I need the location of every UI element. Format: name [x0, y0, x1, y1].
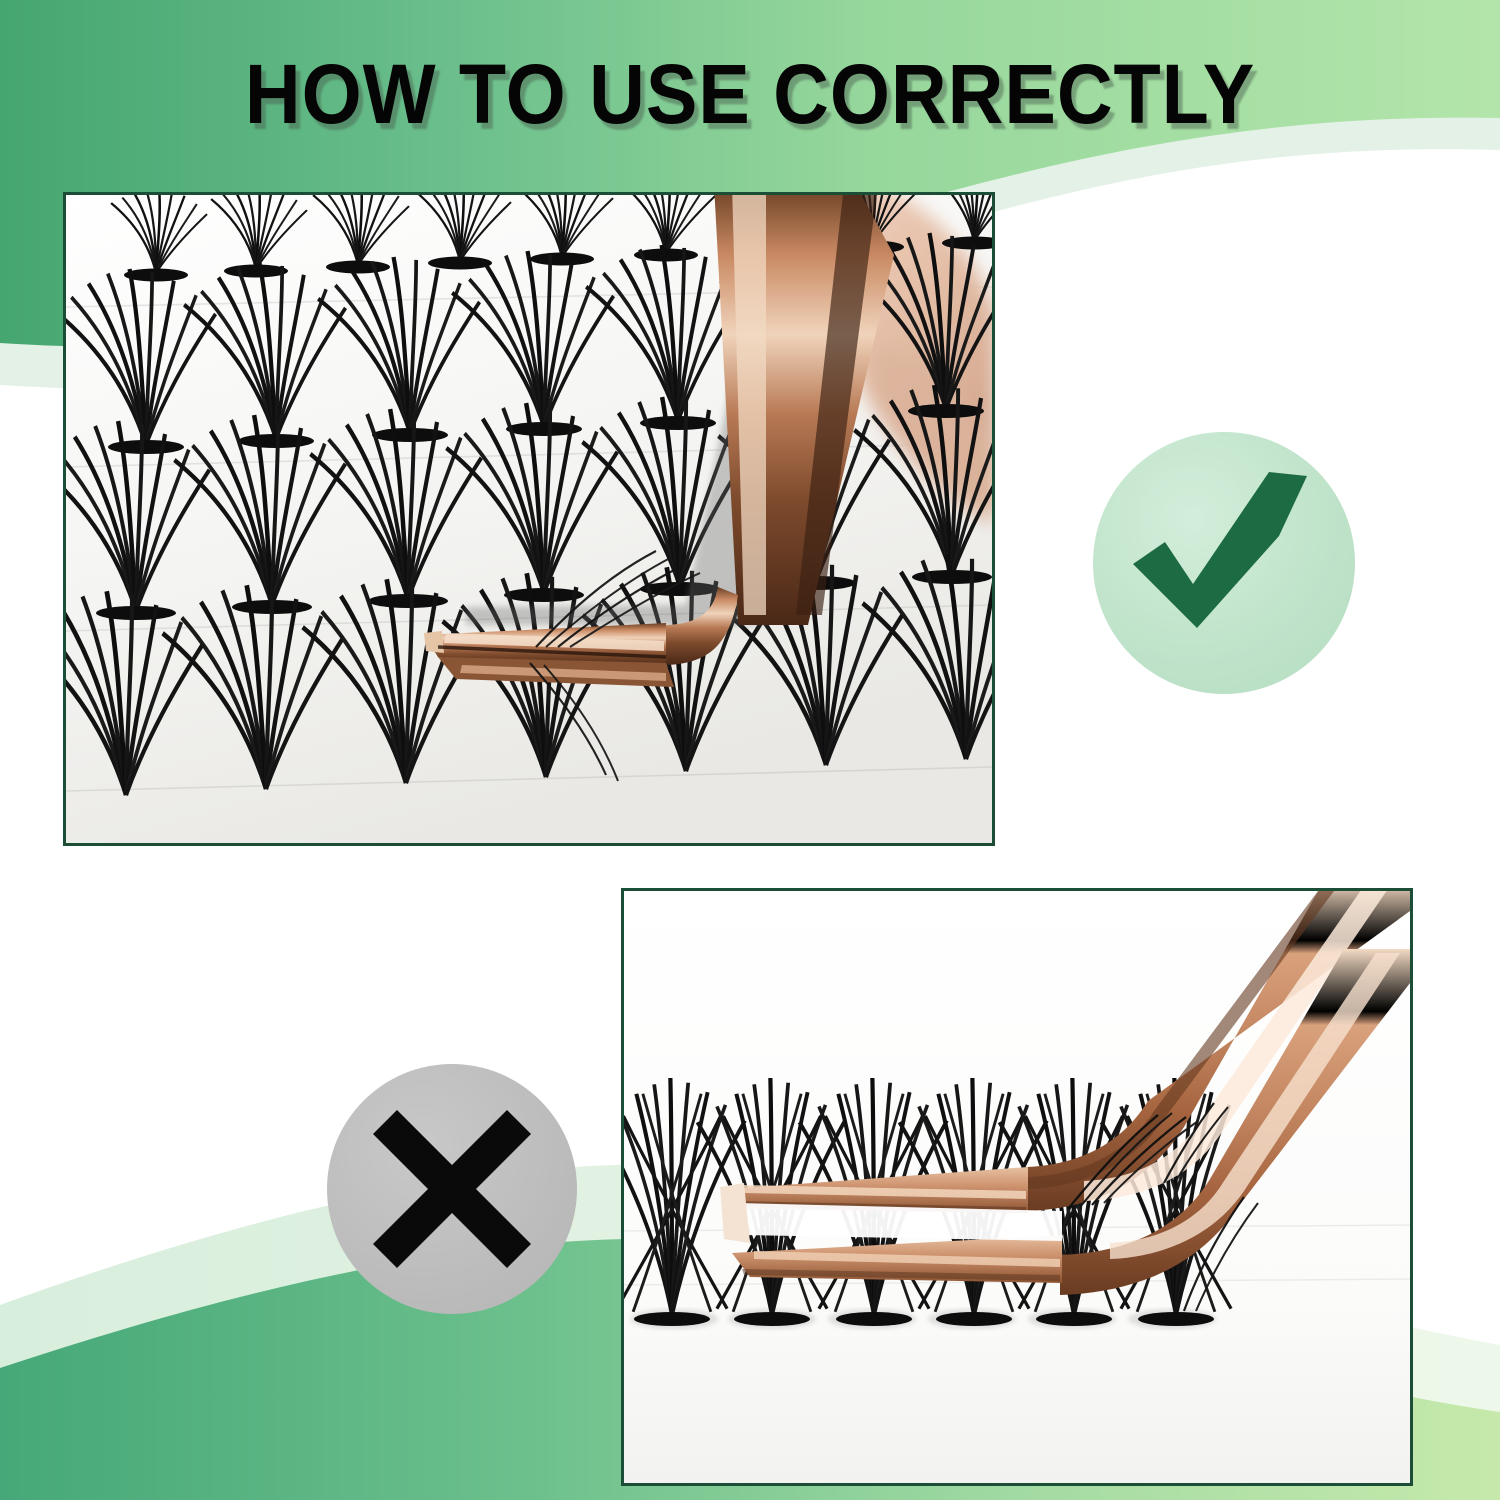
- photo-correct-usage-image: [66, 195, 992, 843]
- cross-icon-glyph: [327, 1064, 577, 1314]
- page-title-text: HOW TO USE CORRECTLY: [245, 52, 1255, 136]
- photo-incorrect-usage: [621, 888, 1413, 1486]
- instruction-poster: HOW TO USE CORRECTLY: [0, 0, 1500, 1500]
- check-icon: [1093, 432, 1355, 694]
- photo-correct-usage: [63, 192, 995, 846]
- page-title: HOW TO USE CORRECTLY: [0, 52, 1500, 136]
- photo-incorrect-usage-image: [624, 891, 1410, 1483]
- lash-tray-illustration: [66, 195, 992, 843]
- check-icon-glyph: [1093, 432, 1355, 694]
- cross-icon: [327, 1064, 577, 1314]
- lash-row-illustration: [624, 891, 1410, 1483]
